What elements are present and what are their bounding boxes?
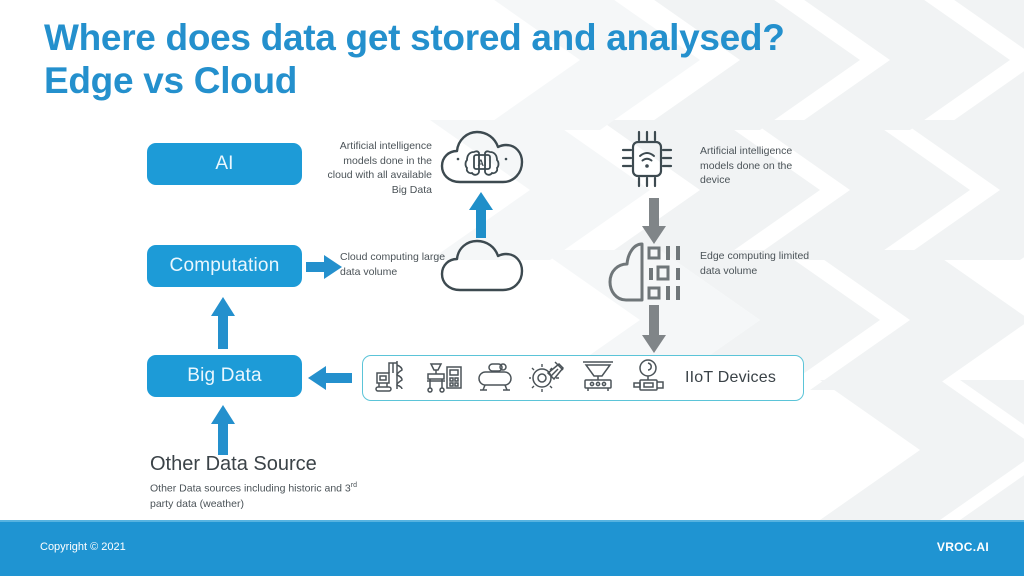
edge-cloud-binary-icon <box>608 240 686 309</box>
other-data-source-subtitle: Other Data sources including historic an… <box>150 478 365 512</box>
copyright-text: Copyright © 2021 <box>40 541 126 553</box>
conveyor-hopper-icon <box>579 359 617 398</box>
drilling-rig-icon <box>375 359 411 398</box>
iiot-devices-panel[interactable]: IIoT Devices <box>362 355 804 401</box>
arrow-big-data-to-computation <box>208 297 238 354</box>
annotation-edge-ai: Artificial intelligence models done on t… <box>700 144 820 188</box>
air-compressor-icon <box>477 360 515 397</box>
arrow-computation-to-cloud <box>306 255 342 284</box>
microchip-wifi-icon <box>618 128 676 195</box>
iiot-devices-label: IIoT Devices <box>685 369 776 387</box>
title-line-1: Where does data get stored and analysed? <box>44 17 785 58</box>
page-title: Where does data get stored and analysed?… <box>44 16 874 102</box>
arrow-chip-to-edge-cloud <box>640 198 668 249</box>
ods-sub-sup: rd <box>351 482 357 489</box>
ods-sub-pre: Other Data sources including historic an… <box>150 483 351 495</box>
box-ai-label: AI <box>215 153 233 175</box>
brand-label: VROC.AI <box>937 540 989 554</box>
annotation-cloud-computing: Cloud computing large data volume <box>340 250 450 279</box>
footer-top-divider <box>0 520 1024 522</box>
arrow-cloud-to-ai-cloud <box>466 192 496 243</box>
slide-canvas: Where does data get stored and analysed?… <box>0 0 1024 576</box>
title-line-2: Edge vs Cloud <box>44 59 874 102</box>
cloud-icon <box>440 238 524 301</box>
svg-text:AI: AI <box>478 158 487 168</box>
box-big-data-label: Big Data <box>187 365 261 387</box>
annotation-ai-cloud: Artificial intelligence models done in t… <box>322 139 432 197</box>
box-ai[interactable]: AI <box>147 143 302 185</box>
gear-valve-icon <box>529 359 565 398</box>
iiot-icon-row <box>363 359 667 398</box>
flow-meter-icon <box>631 359 667 398</box>
arrow-iiot-to-big-data <box>308 366 352 395</box>
annotation-edge-computing: Edge computing limited data volume <box>700 249 820 278</box>
arrow-other-source-to-big-data <box>208 405 238 460</box>
box-computation-label: Computation <box>170 255 280 277</box>
box-computation[interactable]: Computation <box>147 245 302 287</box>
arrow-edge-cloud-to-iiot <box>640 305 668 358</box>
ods-sub-post: party data (weather) <box>150 498 244 510</box>
cloud-ai-brain-icon: AI <box>440 126 524 197</box>
footer-bar: Copyright © 2021 VROC.AI <box>0 520 1024 576</box>
box-big-data[interactable]: Big Data <box>147 355 302 397</box>
packaging-machine-icon <box>425 359 463 398</box>
